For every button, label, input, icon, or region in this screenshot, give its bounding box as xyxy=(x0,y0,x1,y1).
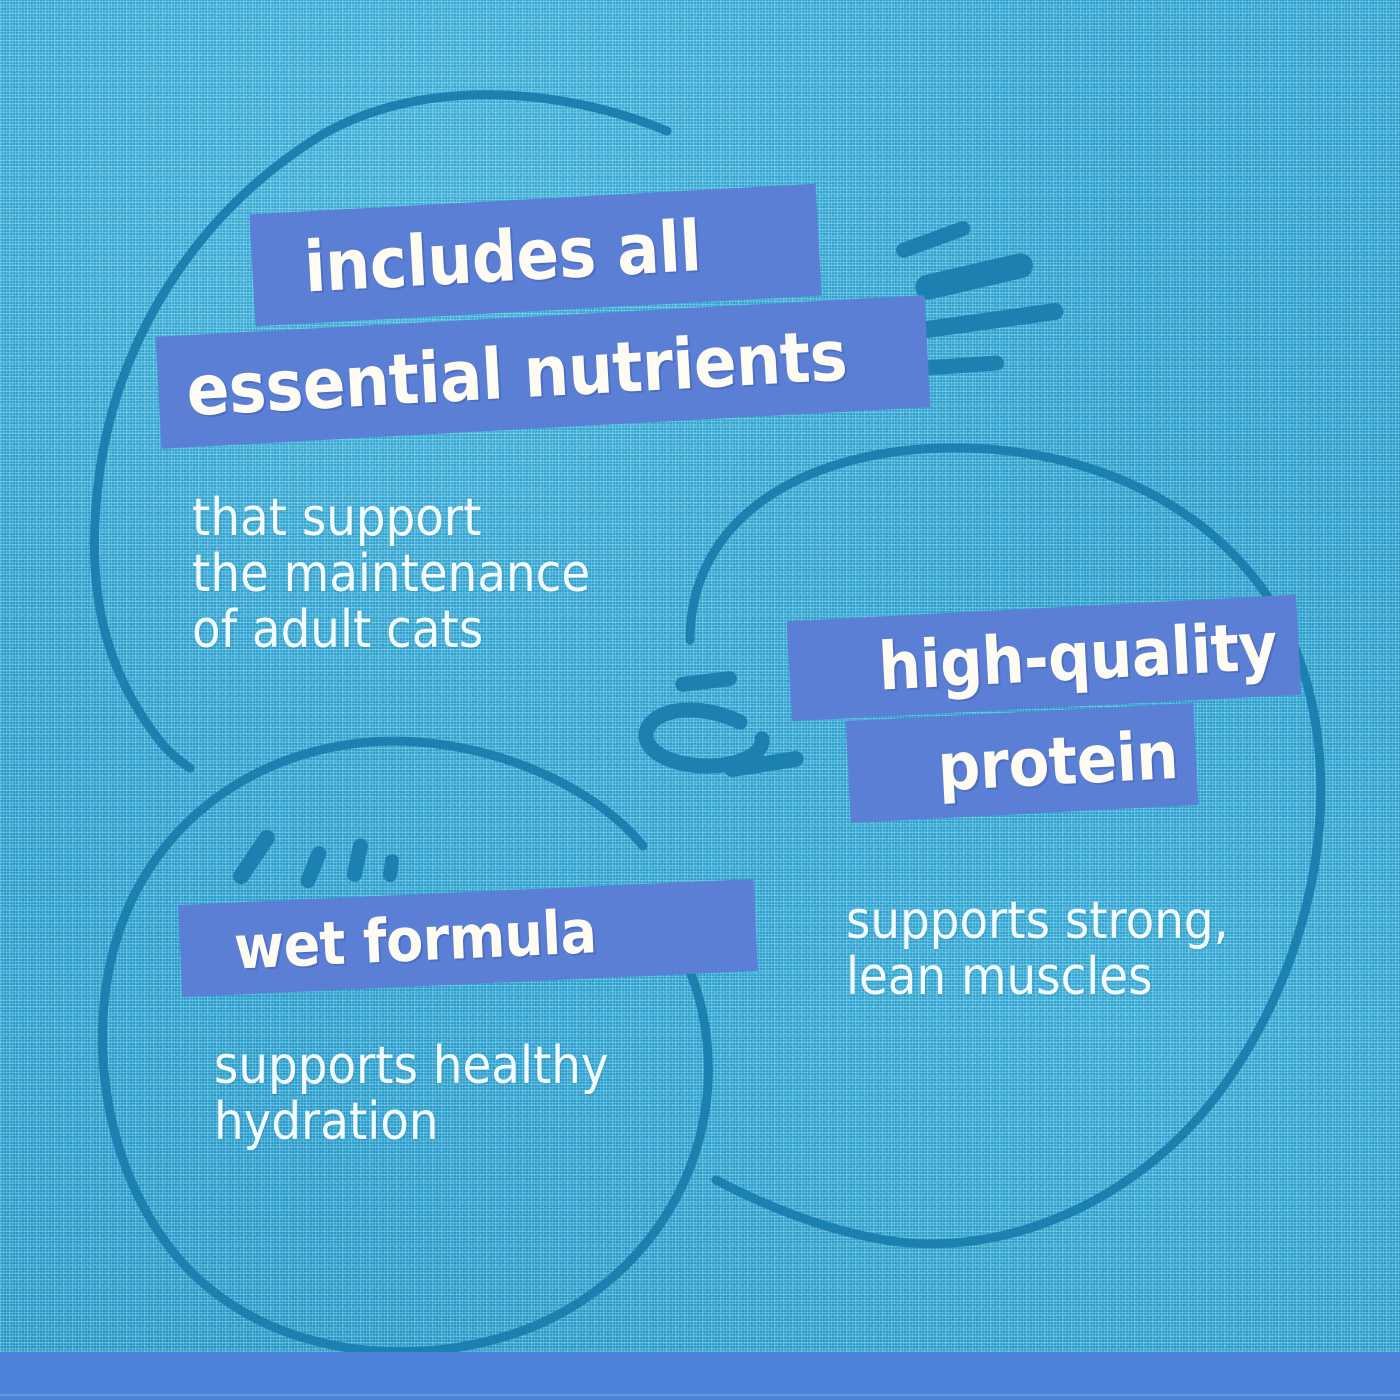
body-copy-high-quality-protein: supports strong, lean muscles xyxy=(846,893,1228,1005)
body-copy-essential-nutrients: that support the maintenance of adult ca… xyxy=(192,490,590,658)
circle-right-icon xyxy=(690,448,1321,1244)
headline-wet-formula: wet formula xyxy=(178,879,758,997)
tick-marks-icon xyxy=(230,827,400,891)
body-copy-wet-formula: supports healthy hydration xyxy=(214,1038,609,1150)
headline-high-quality-protein-line2: protein xyxy=(846,703,1199,823)
spark-lines-middle-icon xyxy=(646,670,805,778)
bottom-accent-bar xyxy=(0,1352,1400,1400)
headline-high-quality-protein-line1: high-quality xyxy=(787,595,1302,722)
feature-graphic: includes all essential nutrients that su… xyxy=(0,0,1400,1400)
